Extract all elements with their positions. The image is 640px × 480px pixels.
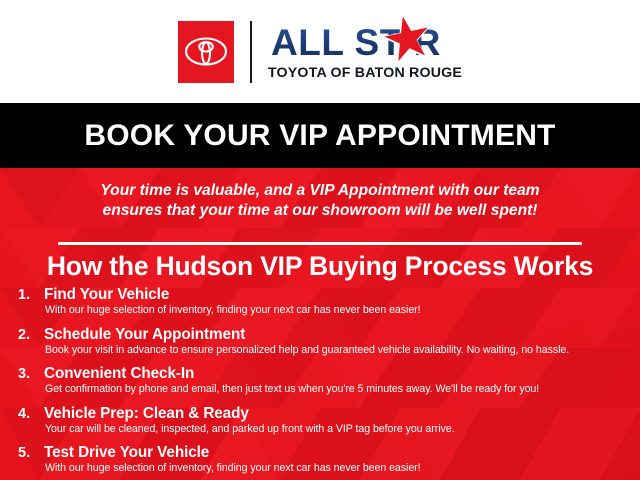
tagline-line-2: ensures that your time at our showroom w…	[0, 201, 640, 221]
tagline-line-1: Your time is valuable, and a VIP Appoint…	[0, 181, 640, 201]
tagline: Your time is valuable, and a VIP Appoint…	[0, 181, 640, 221]
list-item: 1. Find Your Vehicle With our huge selec…	[0, 287, 640, 327]
content-panel: Your time is valuable, and a VIP Appoint…	[0, 168, 640, 480]
allstar-wordmark: ALL ST R TOYOTA OF BATON ROUGE	[268, 22, 462, 81]
step-title: Convenient Check-In	[44, 365, 194, 383]
horizontal-divider	[58, 242, 582, 245]
step-number: 2.	[18, 327, 30, 343]
headline-banner: BOOK YOUR VIP APPOINTMENT	[0, 103, 640, 168]
logo-header: ALL ST R TOYOTA OF BATON ROUGE	[0, 0, 640, 103]
step-description: Get confirmation by phone and email, the…	[45, 383, 539, 395]
step-title: Vehicle Prep: Clean & Ready	[44, 405, 249, 423]
step-number: 5.	[18, 445, 30, 461]
step-title: Test Drive Your Vehicle	[44, 444, 209, 462]
step-description: Your car will be cleaned, inspected, and…	[45, 423, 455, 435]
vertical-divider-icon	[250, 21, 252, 83]
section-title: How the Hudson VIP Buying Process Works	[0, 251, 640, 282]
dealer-logo[interactable]: ALL ST R TOYOTA OF BATON ROUGE	[178, 19, 462, 85]
list-item: 5. Test Drive Your Vehicle With our huge…	[0, 445, 640, 480]
step-number: 3.	[18, 366, 30, 382]
toyota-emblem-icon	[185, 37, 227, 66]
toyota-logo-tile	[178, 21, 234, 83]
step-title: Find Your Vehicle	[44, 286, 169, 304]
list-item: 4. Vehicle Prep: Clean & Ready Your car …	[0, 406, 640, 446]
process-steps-list: 1. Find Your Vehicle With our huge selec…	[0, 287, 640, 480]
step-number: 1.	[18, 287, 30, 303]
red-content: Your time is valuable, and a VIP Appoint…	[0, 168, 640, 480]
step-description: With our huge selection of inventory, fi…	[45, 304, 421, 316]
step-title: Schedule Your Appointment	[44, 326, 245, 344]
step-description: Book your visit in advance to ensure per…	[45, 344, 569, 356]
banner-title: BOOK YOUR VIP APPOINTMENT	[84, 119, 555, 153]
list-item: 2. Schedule Your Appointment Book your v…	[0, 327, 640, 367]
allstar-line: ALL ST R	[271, 24, 459, 64]
dealer-subtitle: TOYOTA OF BATON ROUGE	[268, 65, 462, 81]
step-number: 4.	[18, 406, 30, 422]
red-star-icon	[384, 15, 431, 62]
step-description: With our huge selection of inventory, fi…	[45, 462, 421, 474]
list-item: 3. Convenient Check-In Get confirmation …	[0, 366, 640, 406]
promo-page: ALL ST R TOYOTA OF BATON ROUGE BOOK YOUR…	[0, 0, 640, 480]
